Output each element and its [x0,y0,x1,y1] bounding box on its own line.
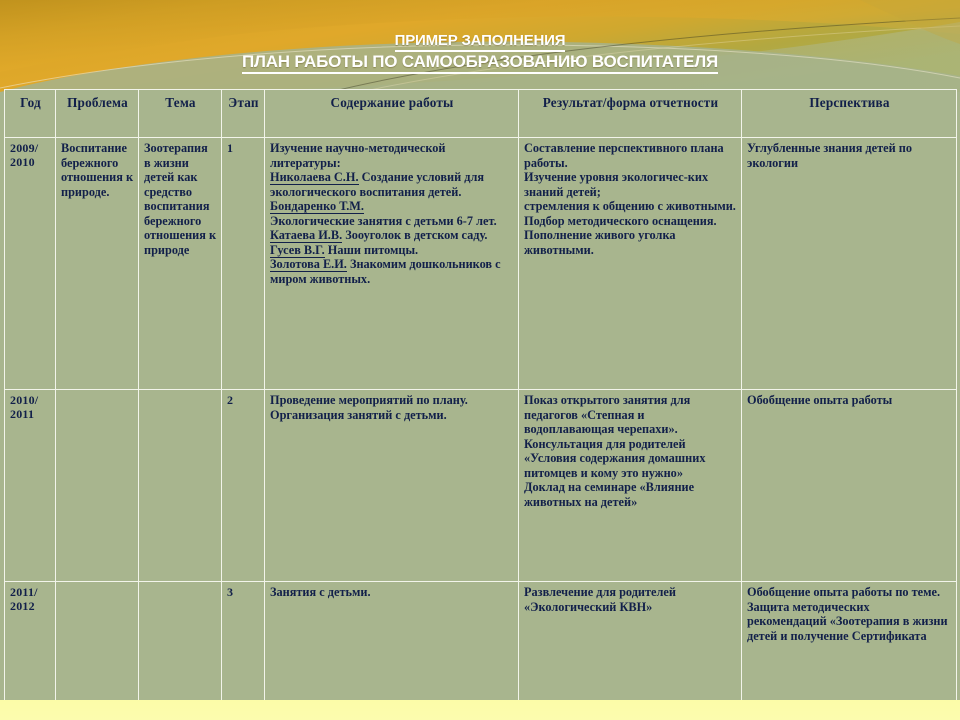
content-entry: Золотова Е.И. Знакомим дошкольников с ми… [270,257,514,286]
content-entry: Катаева И.В. Зооуголок в детском саду. [270,228,514,243]
cell-result: Показ открытого занятия для педагогов «С… [519,390,742,582]
cell-result: Составление перспективного планаработы.И… [519,138,742,390]
result-line: Подбор методического оснащения. [524,214,737,229]
col-header-problem: Проблема [56,90,139,138]
footer-band [0,700,960,720]
content-text: Проведение мероприятий по плану. Организ… [270,393,468,422]
cell-year: 2009/2010 [5,138,56,390]
footer-band-fill [0,700,960,720]
result-line: работы. [524,156,737,171]
content-text: Наши питомцы. [325,243,418,257]
col-header-theme: Тема [139,90,222,138]
col-header-stage: Этап [222,90,265,138]
col-header-year: Год [5,90,56,138]
year-line: 2012 [10,599,51,613]
title-line-1: ПРИМЕР ЗАПОЛНЕНИЯ [0,32,960,52]
content-entry: Экологические занятия с детьми 6-7 лет. [270,214,514,229]
perspective-line: Углубленные знания детей по экологии [747,141,952,170]
content-entry: Бондаренко Т.М. [270,199,514,214]
result-line: стремления к общению с животными. [524,199,737,214]
perspective-line: Обобщение опыта работы [747,393,952,408]
year-line: 2011 [10,407,51,421]
cell-stage: 2 [222,390,265,582]
result-line: Доклад на семинаре «Влияние животных на … [524,480,737,509]
perspective-line: Обобщение опыта работы по теме. [747,585,952,600]
cell-problem [56,390,139,582]
content-text: Занятия с детьми. [270,585,371,599]
slide-title-block: ПРИМЕР ЗАПОЛНЕНИЯ ПЛАН РАБОТЫ ПО САМООБР… [0,32,960,74]
perspective-line: Защита методических рекомендаций «Зоотер… [747,600,952,644]
cell-content: Изучение научно-методической литературы:… [265,138,519,390]
content-text: Зооуголок в детском саду. [342,228,487,242]
year-line: 2011/ [10,585,51,599]
title-line-2: ПЛАН РАБОТЫ ПО САМООБРАЗОВАНИЮ ВОСПИТАТЕ… [0,52,960,74]
title-line-2-text: ПЛАН РАБОТЫ ПО САМООБРАЗОВАНИЮ ВОСПИТАТЕ… [242,52,718,74]
author-name: Золотова Е.И. [270,257,347,272]
cell-theme: Зоотерапия в жизни детей как средство во… [139,138,222,390]
content-text: Экологические занятия с детьми 6-7 лет. [270,214,497,228]
result-line: Консультация для родителей «Условия соде… [524,437,737,481]
content-entry: Гусев В.Г. Наши питомцы. [270,243,514,258]
content-entry: Проведение мероприятий по плану. Организ… [270,393,514,422]
year-line: 2010/ [10,393,51,407]
col-header-content: Содержание работы [265,90,519,138]
year-line: 2009/ [10,141,51,155]
author-name: Катаева И.В. [270,228,342,243]
cell-perspective: Углубленные знания детей по экологии [742,138,957,390]
cell-stage: 1 [222,138,265,390]
col-header-perspective: Перспектива [742,90,957,138]
year-line: 2010 [10,155,51,169]
content-text: Изучение научно-методической литературы: [270,141,445,170]
col-header-result: Результат/форма отчетности [519,90,742,138]
cell-perspective: Обобщение опыта работы [742,390,957,582]
table-body: 2009/2010Воспитание бережного отношения … [5,138,957,720]
table-row: 2009/2010Воспитание бережного отношения … [5,138,957,390]
content-entry: Николаева С.Н. Создание условий для экол… [270,170,514,199]
author-name: Гусев В.Г. [270,243,325,258]
result-line: Развлечение для родителей «Экологический… [524,585,737,614]
cell-problem: Воспитание бережного отношения к природе… [56,138,139,390]
table-header: Год Проблема Тема Этап Содержание работы… [5,90,957,138]
result-line: Показ открытого занятия для педагогов «С… [524,393,737,437]
cell-theme [139,390,222,582]
table-row: 2010/20112Проведение мероприятий по план… [5,390,957,582]
cell-year: 2010/2011 [5,390,56,582]
result-line: Изучение уровня экологичес-ких знаний де… [524,170,737,199]
result-line: Пополнение живого уголка животными. [524,228,737,257]
result-line: Составление перспективного плана [524,141,737,156]
slide-canvas: ПРИМЕР ЗАПОЛНЕНИЯ ПЛАН РАБОТЫ ПО САМООБР… [0,0,960,720]
title-line-1-text: ПРИМЕР ЗАПОЛНЕНИЯ [395,32,566,52]
table-header-row: Год Проблема Тема Этап Содержание работы… [5,90,957,138]
content-entry: Изучение научно-методической литературы: [270,141,514,170]
author-name: Бондаренко Т.М. [270,199,364,214]
author-name: Николаева С.Н. [270,170,359,185]
cell-content: Проведение мероприятий по плану. Организ… [265,390,519,582]
self-education-plan-table: Год Проблема Тема Этап Содержание работы… [4,89,957,720]
content-entry: Занятия с детьми. [270,585,514,600]
